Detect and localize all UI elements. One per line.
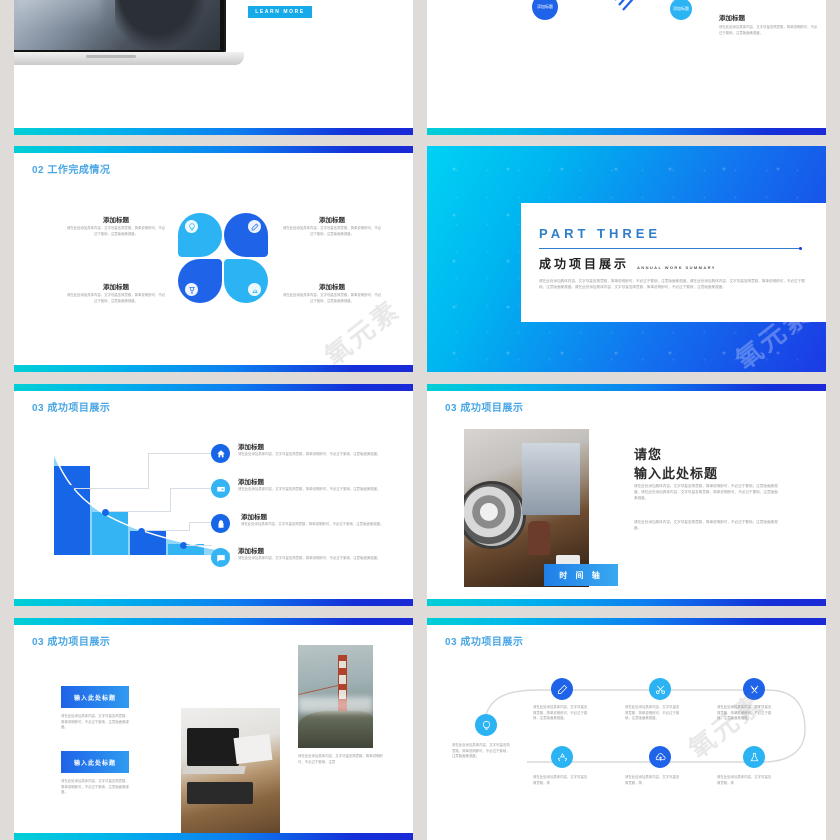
leader-line-2b xyxy=(170,488,171,512)
section-heading: 成功项目展示 xyxy=(539,255,629,272)
slide6-heading-line2: 输入此处标题 xyxy=(634,463,718,482)
top-gradient-bar xyxy=(427,618,826,625)
petal-label-4: 添加标题 请在此处添加具体内容，文字尽量言简意赅，简单说明即可，不必过于繁琐，注… xyxy=(282,281,382,304)
chart-callout-2-body: 请在此处添加具体内容，文字尽量言简意赅，简单说明即可，不必过于繁琐，注意版面美观… xyxy=(238,487,388,493)
leader-line-3b xyxy=(189,522,190,531)
chart-node-3 xyxy=(138,528,145,535)
slide5-title: 03 成功项目展示 xyxy=(32,399,110,414)
slide2-right-heading: 添加标题 xyxy=(719,12,745,22)
chart-callout-2: 添加标题 请在此处添加具体内容，文字尽量言简意赅，简单说明即可，不必过于繁琐，注… xyxy=(238,476,388,493)
chart-node-2 xyxy=(102,509,109,516)
slide8-node-body-6: 请在此处添加具体内容，文字尽量言简意赅，简 xyxy=(625,775,681,786)
lock-icon[interactable] xyxy=(211,514,230,533)
node-left-label: 添加标题 xyxy=(537,5,553,10)
slide7-button-1[interactable]: 输入此处标题 xyxy=(61,686,129,708)
slide7-button-2[interactable]: 输入此处标题 xyxy=(61,751,129,773)
slide7-title: 03 成功项目展示 xyxy=(32,633,110,648)
recycle-icon xyxy=(557,752,568,763)
node-cloud-upload[interactable] xyxy=(649,746,671,768)
chart-callout-1-heading: 添加标题 xyxy=(238,441,388,451)
leader-line-2c xyxy=(170,488,212,489)
bottom-gradient-bar xyxy=(14,599,413,606)
timeline-button[interactable]: 时 间 轴 xyxy=(544,564,618,586)
laptop-desk-photo xyxy=(181,708,280,840)
bottom-gradient-bar xyxy=(14,833,413,840)
node-recycle[interactable] xyxy=(551,746,573,768)
slide6-heading-line1: 请您 xyxy=(634,444,662,463)
flask-icon xyxy=(749,752,760,763)
petal-label-3-heading: 添加标题 xyxy=(66,281,166,291)
lightbulb-icon xyxy=(185,220,198,233)
leader-line-1 xyxy=(74,488,149,489)
chart-callout-1: 添加标题 请在此处添加具体内容，文字尽量言简意赅，简单说明即可，不必过于繁琐，注… xyxy=(238,441,388,458)
chart-callout-4: 添加标题 请在此处添加具体内容，文字尽量言简意赅，简单说明即可，不必过于繁琐，注… xyxy=(238,545,388,562)
top-gradient-bar xyxy=(14,384,413,391)
petal-label-1-body: 请在此处添加具体内容，文字尽量言简意赅，简单说明即可，不必过于繁琐，注意版面美观… xyxy=(66,226,166,237)
petal-label-2-body: 请在此处添加具体内容，文字尽量言简意赅，简单说明即可，不必过于繁琐，注意版面美观… xyxy=(282,226,382,237)
slide2-right-body: 请在此处添加具体内容，文字尽量言简意赅，简单说明即可，不必过于繁琐，注意版面美观… xyxy=(719,25,819,36)
top-gradient-bar xyxy=(14,146,413,153)
home-icon[interactable] xyxy=(211,444,230,463)
petal-bottom-right[interactable] xyxy=(224,259,268,303)
chat-icon[interactable] xyxy=(211,548,230,567)
node-right-label: 添加标题 xyxy=(673,7,689,12)
petal-label-1-heading: 添加标题 xyxy=(66,214,166,224)
slide-thumbnail-6[interactable]: 03 成功项目展示 时 间 轴 请您 输入此处标题 请在此处添加具体内容，文字尽… xyxy=(427,384,826,606)
petal-bottom-left[interactable] xyxy=(178,259,222,303)
chart-callout-2-heading: 添加标题 xyxy=(238,476,388,486)
wallet-icon[interactable] xyxy=(211,479,230,498)
chart-icon xyxy=(248,283,261,296)
slide8-node-body-7: 请在此处添加具体内容，文字尽量言简意赅，简 xyxy=(717,775,773,786)
slide-thumbnail-3[interactable]: 02 工作完成情况 xyxy=(14,146,413,372)
petal-label-4-heading: 添加标题 xyxy=(282,281,382,291)
petal-top-right[interactable] xyxy=(224,213,268,257)
chart-callout-3-body: 请在此处添加具体内容，文字尽量言简意赅，简单说明即可，不必过于繁琐，注意版面美观… xyxy=(241,522,391,528)
pen-icon xyxy=(248,220,261,233)
slide8-node-body-2: 请在此处添加具体内容，文字尽量言简意赅，简单说明即可，不必过于繁琐，注意版面美观… xyxy=(533,705,589,722)
slide6-title: 03 成功项目展示 xyxy=(445,399,523,414)
slide-thumbnail-7[interactable]: 03 成功项目展示 输入此处标题 请在此处添加具体内容，文字尽量言简意赅，简单说… xyxy=(14,618,413,840)
leader-line-1c xyxy=(148,453,212,454)
bottom-gradient-bar xyxy=(14,128,413,135)
leader-line-3c xyxy=(189,522,212,523)
slide-thumbnail-1[interactable]: 添加标题 请在此处添加具体内容，文字尽量言简意赅，简单说明即可，不必过于繁琐，注… xyxy=(14,0,413,135)
node-pen[interactable] xyxy=(551,678,573,700)
leader-line-4 xyxy=(186,545,212,546)
petal-label-2-heading: 添加标题 xyxy=(282,214,382,224)
chart-callout-4-heading: 添加标题 xyxy=(238,545,388,555)
slide-thumbnail-2[interactable]: 添加标题 添加标题 添加标题 请在此处添加具体内容，文字尽量言简意赅，简单说明即… xyxy=(427,0,826,135)
chart-callout-3: 添加标题 请在此处添加具体内容，文字尽量言简意赅，简单说明即可，不必过于繁琐，注… xyxy=(241,511,391,528)
node-flask[interactable] xyxy=(743,746,765,768)
leader-line-3 xyxy=(145,530,190,531)
section-card: PART THREE 成功项目展示 ANNUAL WORK SUMMARY 请在… xyxy=(521,203,826,322)
cloud-upload-icon xyxy=(655,752,666,763)
chart-callout-4-body: 请在此处添加具体内容，文字尽量言简意赅，简单说明即可，不必过于繁琐，注意版面美观… xyxy=(238,556,388,562)
slide8-node-body-5: 请在此处添加具体内容，文字尽量言简意赅，简 xyxy=(533,775,589,786)
top-gradient-bar xyxy=(427,384,826,391)
top-gradient-bar xyxy=(14,618,413,625)
slide6-para-1: 请在此处添加具体内容，文字尽量言简意赅，简单说明即可，不必过于繁琐，注意版面美观… xyxy=(634,484,779,502)
slide7-right-body: 请在此处添加具体内容，文字尽量言简意赅，简单说明即可，不必过于繁琐，注意 xyxy=(298,754,386,765)
leader-line-2 xyxy=(109,511,171,512)
bottom-gradient-bar xyxy=(14,365,413,372)
tools-icon xyxy=(749,684,760,695)
petal-top-left[interactable] xyxy=(178,213,222,257)
leader-line-1b xyxy=(148,453,149,489)
ppt-thumbnail-grid: 添加标题 请在此处添加具体内容，文字尽量言简意赅，简单说明即可，不必过于繁琐，注… xyxy=(0,0,840,788)
slide8-node-body-4: 请在此处添加具体内容，文字尽量言简意赅，简单说明即可，不必过于繁琐，注意版面美观… xyxy=(717,705,773,722)
divider-dot xyxy=(799,247,802,250)
scissors-icon xyxy=(655,684,666,695)
lightbulb-icon xyxy=(481,720,492,731)
slide6-para-2: 请在此处添加具体内容，文字尽量言简意赅，简单说明即可，不必过于繁琐，注意版面美观… xyxy=(634,520,779,532)
trophy-icon xyxy=(185,283,198,296)
part-label: PART THREE xyxy=(539,226,661,241)
petal-label-2: 添加标题 请在此处添加具体内容，文字尽量言简意赅，简单说明即可，不必过于繁琐，注… xyxy=(282,214,382,237)
learn-more-button[interactable]: LEARN MORE xyxy=(248,6,312,18)
four-petal-diagram xyxy=(177,212,269,304)
golden-gate-bridge-photo xyxy=(298,645,373,748)
divider xyxy=(539,248,799,249)
petal-label-4-body: 请在此处添加具体内容，文字尽量言简意赅，简单说明即可，不必过于繁琐，注意版面美观… xyxy=(282,293,382,304)
node-lightbulb[interactable] xyxy=(475,714,497,736)
bottom-gradient-bar xyxy=(427,599,826,606)
node-scissors[interactable] xyxy=(649,678,671,700)
chart-node-1 xyxy=(67,485,74,492)
slide-thumbnail-4[interactable]: PART THREE 成功项目展示 ANNUAL WORK SUMMARY 请在… xyxy=(427,146,826,372)
slide-thumbnail-8[interactable]: 03 成功项目展示 请在此处添加具体内容，文字尽量言简意赅，简单说明即可，不必过… xyxy=(427,618,826,840)
bottom-gradient-bar xyxy=(427,128,826,135)
slide7-body-1: 请在此处添加具体内容，文字尽量言简意赅，简单说明即可，不必过于繁琐，注意版面美观… xyxy=(61,714,131,731)
slide8-node-body-1: 请在此处添加具体内容，文字尽量言简意赅，简单说明即可，不必过于繁琐，注意版面美观… xyxy=(452,743,512,760)
petal-label-1: 添加标题 请在此处添加具体内容，文字尽量言简意赅，简单说明即可，不必过于繁琐，注… xyxy=(66,214,166,237)
slide-thumbnail-5[interactable]: 03 成功项目展示 xyxy=(14,384,413,606)
node-tools[interactable] xyxy=(743,678,765,700)
chart-callout-1-body: 请在此处添加具体内容，文字尽量言简意赅，简单说明即可，不必过于繁琐，注意版面美观… xyxy=(238,452,388,458)
slide7-body-2: 请在此处添加具体内容，文字尽量言简意赅，简单说明即可，不必过于繁琐，注意版面美观… xyxy=(61,779,131,796)
petal-label-3-body: 请在此处添加具体内容，文字尽量言简意赅，简单说明即可，不必过于繁琐，注意版面美观… xyxy=(66,293,166,304)
section-subheading: ANNUAL WORK SUMMARY xyxy=(637,265,716,272)
petal-label-3: 添加标题 请在此处添加具体内容，文字尽量言简意赅，简单说明即可，不必过于繁琐，注… xyxy=(66,281,166,304)
pen-icon xyxy=(557,684,568,695)
slide8-node-body-3: 请在此处添加具体内容，文字尽量言简意赅，简单说明即可，不必过于繁琐，注意版面美观… xyxy=(625,705,681,722)
chart-callout-3-heading: 添加标题 xyxy=(241,511,391,521)
slide3-title: 02 工作完成情况 xyxy=(32,161,110,176)
section-body: 请在此处添加具体内容，文字尽量言简意赅，简单说明即可，不必过于繁琐，注意版面美观… xyxy=(539,279,809,291)
slide8-title: 03 成功项目展示 xyxy=(445,633,523,648)
